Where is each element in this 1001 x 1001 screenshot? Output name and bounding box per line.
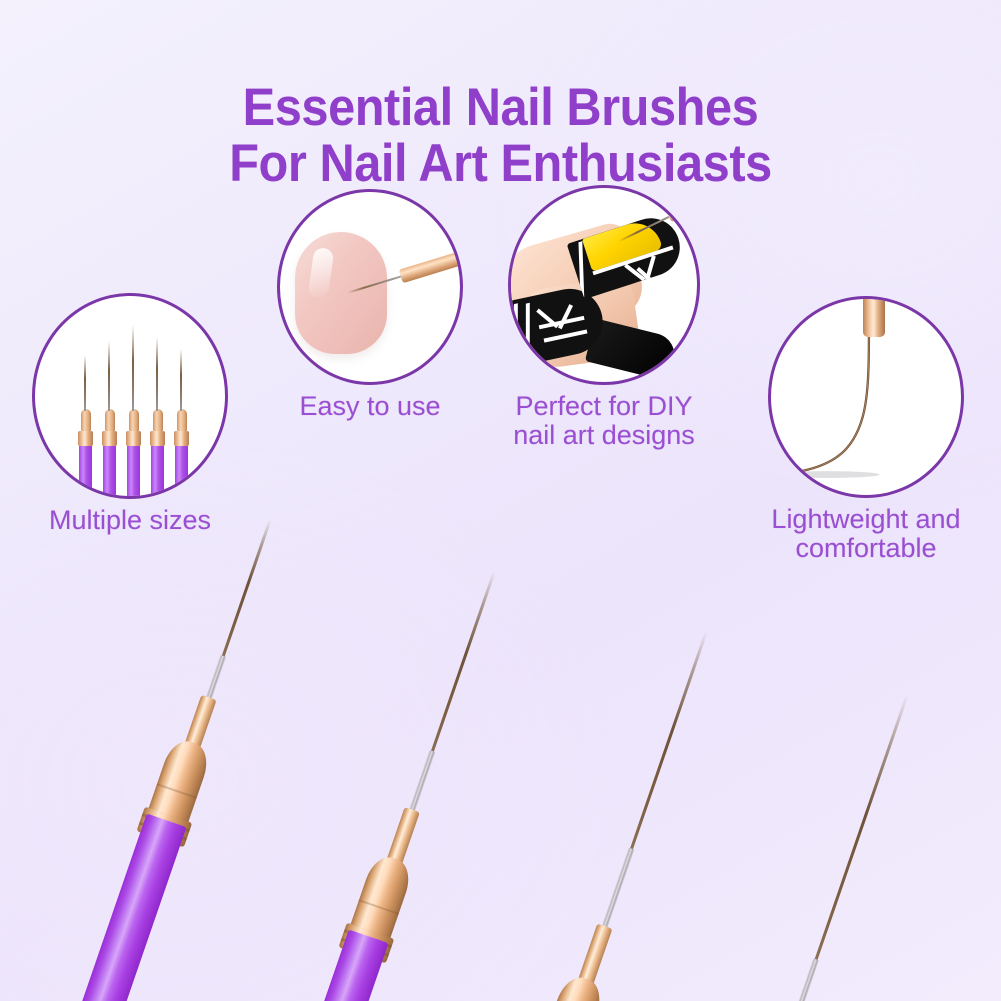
nail-liner-brush — [251, 532, 525, 1001]
brush-bristle-tip — [429, 571, 496, 757]
headline-line-2: For Nail Art Enthusiasts — [40, 136, 961, 192]
feature-image-lightweight — [768, 296, 964, 498]
feature-image-multiple-sizes — [32, 293, 228, 499]
feature-caption-lightweight: Lightweight and comfortable — [751, 505, 981, 563]
feature-multiple-sizes: Multiple sizes — [32, 293, 228, 535]
brush-bristle-base — [408, 750, 435, 814]
pink-nail-shape — [295, 232, 387, 354]
feature-lightweight-comfortable: Lightweight and comfortable — [768, 296, 981, 563]
brush-bristle-base — [782, 958, 819, 1001]
brush-bristle-tip — [220, 519, 272, 662]
feature-caption-diy-nail-art: Perfect for DIY nail art designs — [486, 392, 722, 450]
feature-caption-easy-to-use: Easy to use — [277, 392, 463, 421]
nail-liner-brush — [49, 481, 301, 1001]
ferrule-shape — [399, 249, 463, 283]
five-brushes-row-illustration — [35, 296, 225, 496]
brush-bristle-tip — [813, 694, 909, 965]
ferrule-shape — [863, 296, 885, 337]
page-title: Essential Nail Brushes For Nail Art Enth… — [40, 24, 961, 249]
brush-handle — [251, 930, 388, 1001]
feature-caption-multiple-sizes: Multiple sizes — [32, 506, 228, 535]
brush-handle — [49, 814, 186, 1001]
product-infographic: Essential Nail Brushes For Nail Art Enth… — [0, 0, 1001, 1001]
brush-bristle-base — [205, 655, 226, 702]
brush-bristle-tip — [987, 757, 1001, 1001]
headline-line-1: Essential Nail Brushes — [243, 78, 759, 137]
brush-bristle-tip — [628, 631, 708, 855]
brush-bristle-base — [601, 848, 635, 931]
